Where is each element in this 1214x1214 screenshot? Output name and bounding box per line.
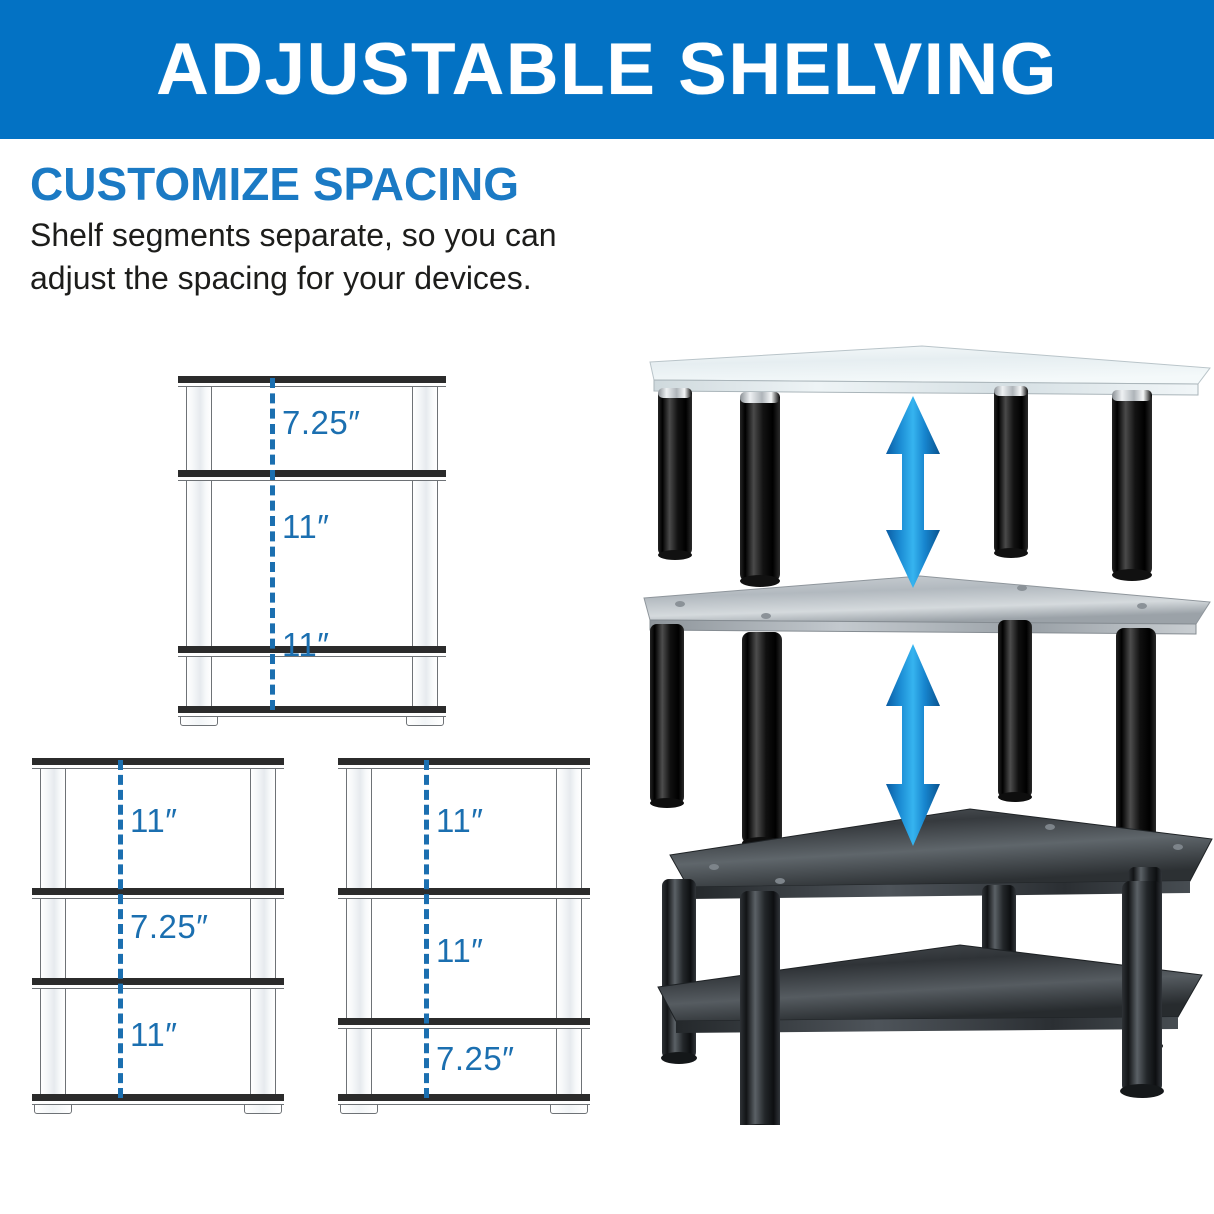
diagram-c-gap-label-1: 11″ (436, 802, 483, 840)
diagram-configuration-c: 11″ 11″ 7.25″ (338, 758, 590, 1118)
diagram-b-leg-right-1 (250, 764, 276, 888)
diagram-a-leg-left-2 (186, 476, 212, 646)
upper-tier-leg-back-left (658, 388, 692, 560)
glass-screw-hole (1017, 585, 1027, 591)
glass-screw-hole (1045, 824, 1055, 830)
diagram-c-leg-left-1 (346, 764, 372, 888)
upper-tier-leg-front-left (740, 392, 780, 587)
diagram-a-shelf-1 (178, 376, 446, 383)
glass-screw-hole (775, 878, 785, 884)
diagram-a-shelf-4 (178, 706, 446, 713)
glass-screw-hole (709, 864, 719, 870)
diagram-b-leg-right-2 (250, 894, 276, 978)
diagram-b-leg-left-2 (40, 894, 66, 978)
diagram-c-leg-right-1 (556, 764, 582, 888)
diagram-c-shelf-3 (338, 1018, 590, 1025)
diagram-c-leg-right-2 (556, 894, 582, 1018)
diagram-c-leg-left-3 (346, 1024, 372, 1100)
diagram-b-center-dashline (118, 760, 123, 1098)
glass-screw-hole (1173, 844, 1183, 850)
diagram-a-gap-label-1: 7.25″ (282, 404, 360, 442)
glass-screw-hole (761, 613, 771, 619)
diagram-a-leg-right-1 (412, 382, 438, 470)
diagram-configuration-a: 7.25″ 11″ 11″ (178, 376, 446, 736)
diagram-b-gap-label-1: 11″ (130, 802, 177, 840)
intro-body-line-1: Shelf segments separate, so you can (30, 214, 690, 256)
diagram-b-leg-left-3 (40, 984, 66, 1100)
lower-unit-bottom-glass-face (658, 945, 1202, 1021)
diagram-b-shelf-1 (32, 758, 284, 765)
glass-screw-hole (675, 601, 685, 607)
diagram-a-leg-right-3 (412, 652, 438, 712)
lower-unit-leg-front-right (1120, 881, 1164, 1098)
diagram-c-leg-right-3 (556, 1024, 582, 1100)
diagram-b-shelf-2 (32, 888, 284, 895)
diagram-b-gap-label-3: 11″ (130, 1016, 177, 1054)
diagram-b-shelf-4 (32, 1094, 284, 1101)
diagram-c-leg-left-2 (346, 894, 372, 1018)
diagram-c-shelf-2 (338, 888, 590, 895)
intro-body-line-2: adjust the spacing for your devices. (30, 257, 690, 299)
diagram-c-center-dashline (424, 760, 429, 1098)
diagram-a-shelf-2 (178, 470, 446, 477)
product-photo-exploded-view (630, 340, 1214, 1115)
lower-unit-leg-front-left (738, 891, 782, 1125)
upper-tier-leg-back-right (994, 386, 1028, 558)
diagram-a-center-dashline (270, 378, 275, 710)
diagram-c-shelf-4 (338, 1094, 590, 1101)
diagram-c-gap-label-3: 7.25″ (436, 1040, 514, 1078)
middle-tier-leg-back-right (998, 620, 1032, 802)
diagram-a-gap-label-3: 11″ (282, 626, 329, 664)
adjust-arrow-lower-icon (878, 640, 948, 850)
upper-glass-top-face (650, 346, 1210, 384)
page-title: ADJUSTABLE SHELVING (156, 33, 1058, 106)
diagram-b-leg-left-1 (40, 764, 66, 888)
diagram-b-gap-label-2: 7.25″ (130, 908, 208, 946)
diagram-a-leg-right-2 (412, 476, 438, 646)
header-banner: ADJUSTABLE SHELVING (0, 0, 1214, 139)
diagram-configuration-b: 11″ 7.25″ 11″ (32, 758, 284, 1118)
adjust-arrow-upper-icon (878, 392, 948, 592)
diagram-c-shelf-1 (338, 758, 590, 765)
intro-text-block: CUSTOMIZE SPACING Shelf segments separat… (30, 160, 690, 299)
diagram-c-gap-label-2: 11″ (436, 932, 483, 970)
section-subheading: CUSTOMIZE SPACING (30, 160, 690, 208)
lower-unit-leg-back-left (661, 879, 697, 1064)
diagram-b-leg-right-3 (250, 984, 276, 1100)
diagram-b-shelf-3 (32, 978, 284, 985)
diagram-a-leg-left-1 (186, 382, 212, 470)
diagram-a-leg-left-3 (186, 652, 212, 712)
upper-tier-leg-front-right (1112, 390, 1152, 581)
middle-tier-leg-back-left (650, 624, 684, 808)
glass-screw-hole (1137, 603, 1147, 609)
diagram-a-gap-label-2: 11″ (282, 508, 329, 546)
